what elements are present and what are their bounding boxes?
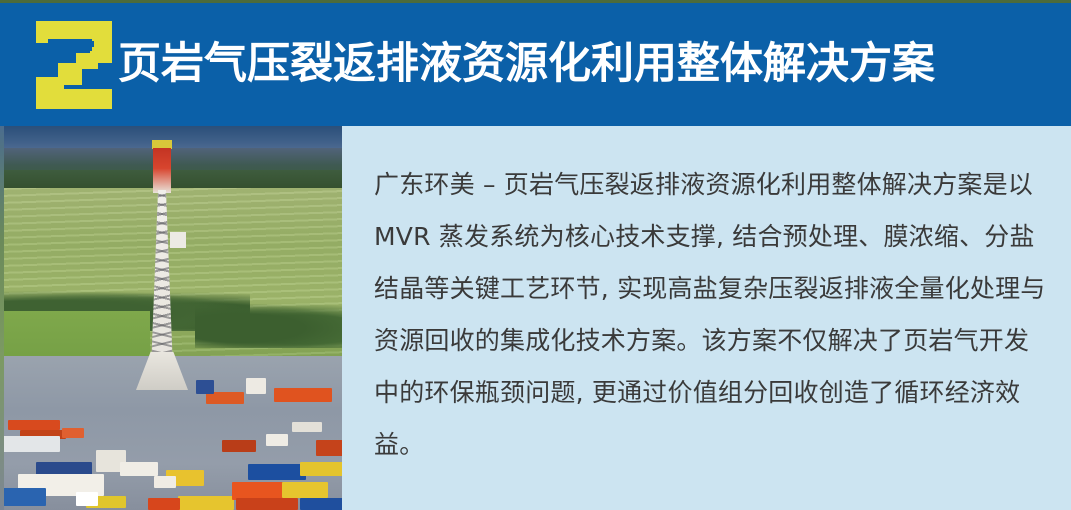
yard-unit xyxy=(0,436,60,452)
header-banner: 页岩气压裂返排液资源化利用整体解决方案 xyxy=(0,3,1071,126)
yard-unit xyxy=(248,464,306,480)
photo-left-edge xyxy=(0,126,4,510)
yard-unit xyxy=(148,498,180,510)
number-segment-bottom xyxy=(36,89,112,109)
equipment-yard xyxy=(0,378,348,510)
yard-unit xyxy=(120,462,158,476)
yard-unit xyxy=(222,440,256,452)
yard-unit xyxy=(246,378,266,394)
number-segment-hole xyxy=(52,43,90,53)
content-row: 广东环美 – 页岩气压裂返排液资源化利用整体解决方案是以 MVR 蒸发系统为核心… xyxy=(0,126,1071,510)
derrick-tower xyxy=(150,140,174,390)
yard-unit xyxy=(8,420,60,430)
description-panel: 广东环美 – 页岩气压裂返排液资源化利用整体解决方案是以 MVR 蒸发系统为核心… xyxy=(348,126,1071,510)
solution-banner-card: 页岩气压裂返排液资源化利用整体解决方案 xyxy=(0,0,1071,510)
drilling-rig-photo xyxy=(0,126,348,510)
yard-unit xyxy=(154,476,176,488)
yard-unit xyxy=(0,488,46,506)
yard-unit xyxy=(178,496,234,510)
yard-unit xyxy=(62,428,84,438)
yard-unit xyxy=(274,388,332,402)
yard-unit xyxy=(282,482,328,498)
derrick-side-platform xyxy=(170,232,186,248)
yard-unit xyxy=(196,380,214,394)
yard-unit xyxy=(300,462,348,476)
yard-unit xyxy=(300,498,348,510)
photo-hedgerow-right xyxy=(195,304,348,348)
derrick-mast-lattice xyxy=(151,190,173,370)
derrick-red-top xyxy=(153,148,171,193)
yard-unit xyxy=(76,492,98,506)
section-number-2-icon xyxy=(36,21,112,109)
yard-unit xyxy=(236,498,298,510)
page-title: 页岩气压裂返排液资源化利用整体解决方案 xyxy=(118,43,935,86)
yard-unit xyxy=(266,434,288,446)
yard-unit xyxy=(292,422,322,432)
description-text: 广东环美 – 页岩气压裂返排液资源化利用整体解决方案是以 MVR 蒸发系统为核心… xyxy=(374,159,1047,471)
